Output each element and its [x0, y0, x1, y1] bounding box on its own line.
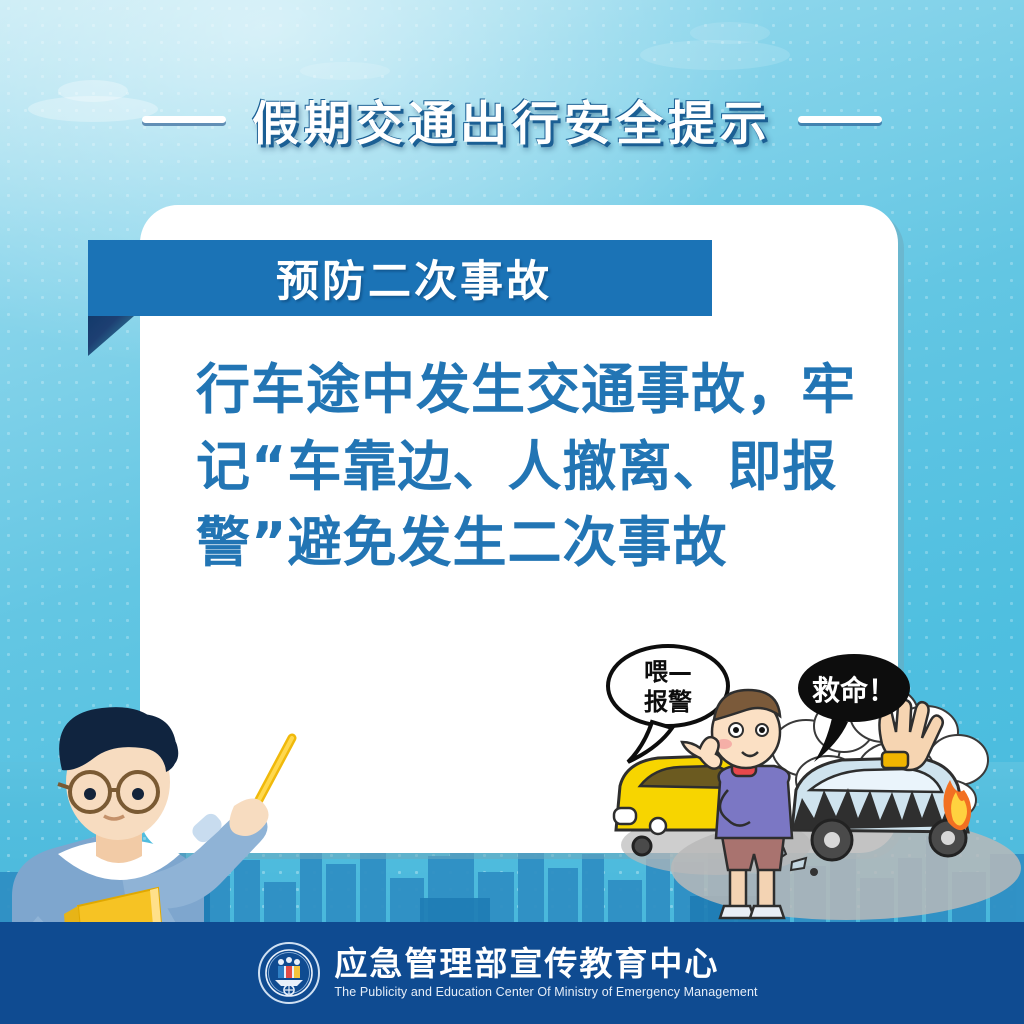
card-body-text: 行车途中发生交通事故，牢记“车靠边、人撤离、即报警”避免发生二次事故: [196, 352, 856, 582]
caller-bubble-line1: 喂—: [644, 658, 692, 686]
teacher-eye: [132, 788, 144, 800]
page-title: 假期交通出行安全提示: [252, 85, 772, 154]
teacher-eye: [84, 788, 96, 800]
section-ribbon: 预防二次事故: [88, 240, 712, 316]
caller-bubble-line2: 报警: [644, 688, 692, 716]
cloud-shape: [690, 22, 770, 44]
footer-brand: 应急管理部宣传教育中心 The Publicity and Education …: [258, 942, 757, 1004]
cloud-shape: [640, 40, 790, 70]
victim-bubble-text: 救命！: [812, 674, 896, 707]
footer-text-block: 应急管理部宣传教育中心 The Publicity and Education …: [334, 946, 757, 999]
ribbon-title: 预防二次事故: [276, 247, 552, 309]
cloud-shape: [300, 62, 390, 80]
ribbon-bar: 预防二次事故: [88, 240, 712, 316]
title-dash-right-icon: [798, 116, 882, 123]
poster-title-row: 假期交通出行安全提示: [0, 84, 1024, 154]
footer-org-name-cn: 应急管理部宣传教育中心: [334, 946, 757, 982]
ministry-emblem-icon: [258, 942, 320, 1004]
poster-root: 假期交通出行安全提示: [0, 0, 1024, 1024]
footer-bar: 应急管理部宣传教育中心 The Publicity and Education …: [0, 922, 1024, 1024]
title-dash-left-icon: [142, 116, 226, 123]
accident-illustration: 救命！ 喂— 报警: [596, 640, 1024, 930]
footer-org-name-en: The Publicity and Education Center Of Mi…: [334, 985, 757, 1000]
